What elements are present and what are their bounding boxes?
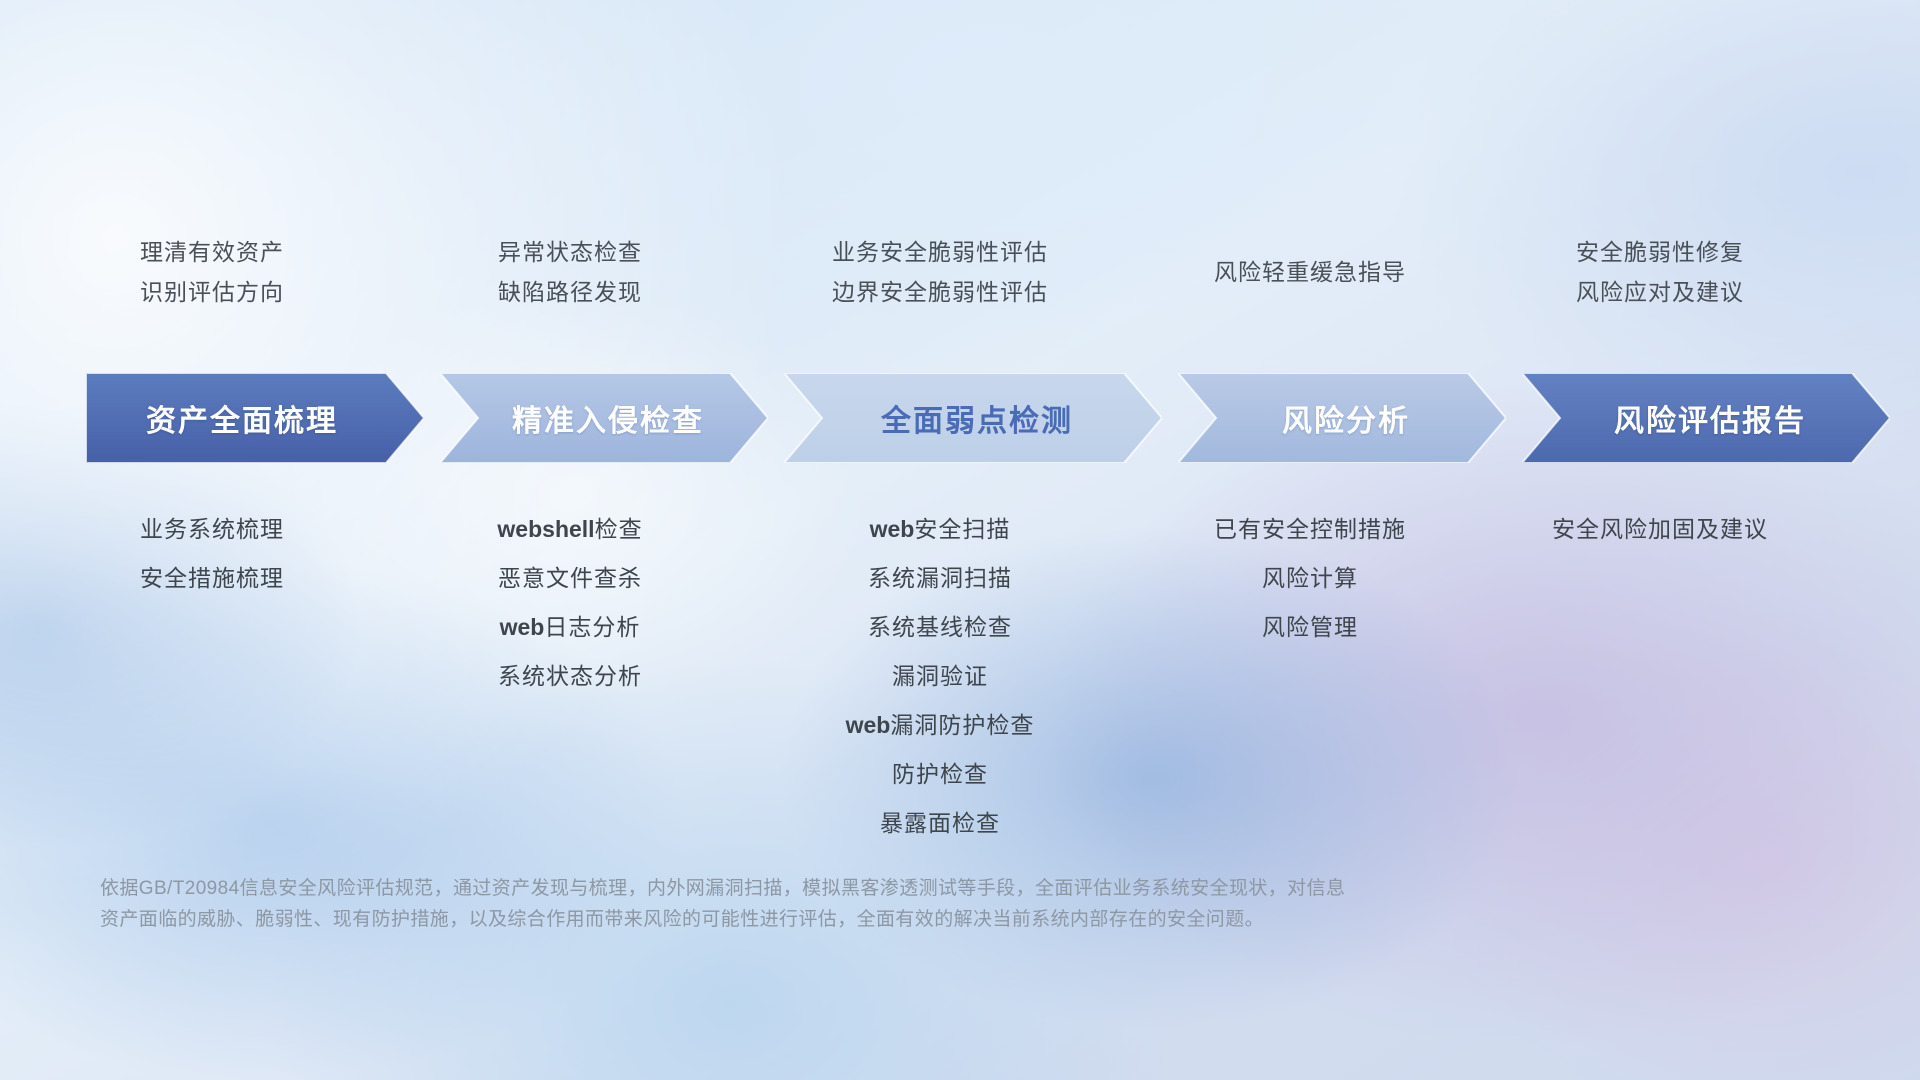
list-item-latin: webshell: [497, 516, 594, 542]
process-stage-label-risk-report: 风险评估报告: [1614, 396, 1806, 440]
stage-bottom-list-risk-report: 安全风险加固及建议: [1410, 505, 1910, 554]
stage-bottom-list-item: web漏洞防护检查: [690, 701, 1190, 750]
list-item-cjk: 日志分析: [544, 614, 640, 640]
list-item-cjk: 漏洞验证: [892, 663, 988, 689]
stage-top-label-item: 风险应对及建议: [1410, 272, 1910, 312]
list-item-cjk: 系统漏洞扫描: [868, 565, 1012, 591]
list-item-cjk: 已有安全控制措施: [1214, 516, 1406, 542]
process-stage-label-risk-analysis: 风险分析: [1282, 396, 1410, 440]
list-item-cjk: 风险管理: [1262, 614, 1358, 640]
stage-top-labels-risk-report: 安全脆弱性修复风险应对及建议: [1410, 232, 1910, 312]
list-item-latin: web: [870, 516, 915, 542]
slide-canvas: 理清有效资产识别评估方向异常状态检查缺陷路径发现业务安全脆弱性评估边界安全脆弱性…: [0, 0, 1920, 1080]
list-item-cjk: 业务系统梳理: [140, 516, 284, 542]
process-stage-risk-analysis[interactable]: 风险分析: [1178, 373, 1506, 463]
process-stage-label-weakness-detection: 全面弱点检测: [881, 396, 1073, 440]
list-item-latin: web: [846, 712, 891, 738]
process-stage-label-intrusion-check: 精准入侵检查: [512, 396, 704, 440]
process-stage-intrusion-check[interactable]: 精准入侵检查: [440, 373, 768, 463]
list-item-cjk: 漏洞防护检查: [890, 712, 1034, 738]
stage-bottom-list-item: 风险计算: [1060, 554, 1560, 603]
process-stage-label-asset-inventory: 资产全面梳理: [146, 396, 338, 440]
list-item-cjk: 防护检查: [892, 761, 988, 787]
stage-bottom-list-item: 暴露面检查: [690, 799, 1190, 848]
list-item-cjk: 恶意文件查杀: [498, 565, 642, 591]
footer-line-1: 依据GB/T20984信息安全风险评估规范，通过资产发现与梳理，内外网漏洞扫描，…: [100, 873, 1740, 904]
stage-bottom-list-item: 安全风险加固及建议: [1410, 505, 1910, 554]
process-stage-asset-inventory[interactable]: 资产全面梳理: [86, 373, 424, 463]
stage-top-labels-row: 理清有效资产识别评估方向异常状态检查缺陷路径发现业务安全脆弱性评估边界安全脆弱性…: [0, 232, 1920, 352]
stage-bottom-list-item: 漏洞验证: [690, 652, 1190, 701]
process-stage-weakness-detection[interactable]: 全面弱点检测: [784, 373, 1162, 463]
list-item-latin: web: [500, 614, 545, 640]
list-item-cjk: 安全风险加固及建议: [1552, 516, 1768, 542]
list-item-cjk: 安全扫描: [914, 516, 1010, 542]
footer-line-2: 资产面临的威胁、脆弱性、现有防护措施，以及综合作用而带来风险的可能性进行评估，全…: [100, 904, 1740, 935]
list-item-cjk: 安全措施梳理: [140, 565, 284, 591]
list-item-cjk: 系统状态分析: [498, 663, 642, 689]
process-stage-risk-report[interactable]: 风险评估报告: [1522, 373, 1890, 463]
list-item-cjk: 风险计算: [1262, 565, 1358, 591]
stage-bottom-list-item: 防护检查: [690, 750, 1190, 799]
footer-description: 依据GB/T20984信息安全风险评估规范，通过资产发现与梳理，内外网漏洞扫描，…: [100, 873, 1740, 935]
stage-bottom-list-item: 风险管理: [1060, 603, 1560, 652]
list-item-cjk: 系统基线检查: [868, 614, 1012, 640]
stage-top-label-item: 安全脆弱性修复: [1410, 232, 1910, 272]
process-arrow-banner: 资产全面梳理精准入侵检查全面弱点检测风险分析风险评估报告: [86, 368, 1856, 468]
list-item-cjk: 检查: [595, 516, 643, 542]
list-item-cjk: 暴露面检查: [880, 810, 1000, 836]
